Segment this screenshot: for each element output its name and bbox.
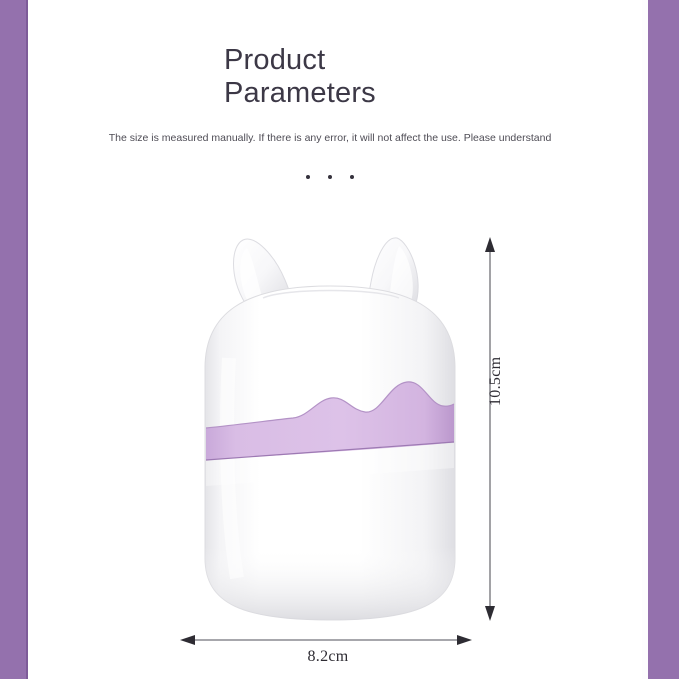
height-dimension-label: 10.5cm xyxy=(487,316,505,406)
arrow-up-icon xyxy=(485,237,495,252)
height-dimension-line xyxy=(485,237,495,621)
width-dimension-label: 8.2cm xyxy=(268,648,388,666)
product-parameters-page: Product Parameters The size is measured … xyxy=(0,0,679,679)
dimension-annotations xyxy=(0,0,679,679)
arrow-down-icon xyxy=(485,606,495,621)
arrow-right-icon xyxy=(457,635,472,645)
arrow-left-icon xyxy=(180,635,195,645)
width-dimension-line xyxy=(180,635,472,645)
